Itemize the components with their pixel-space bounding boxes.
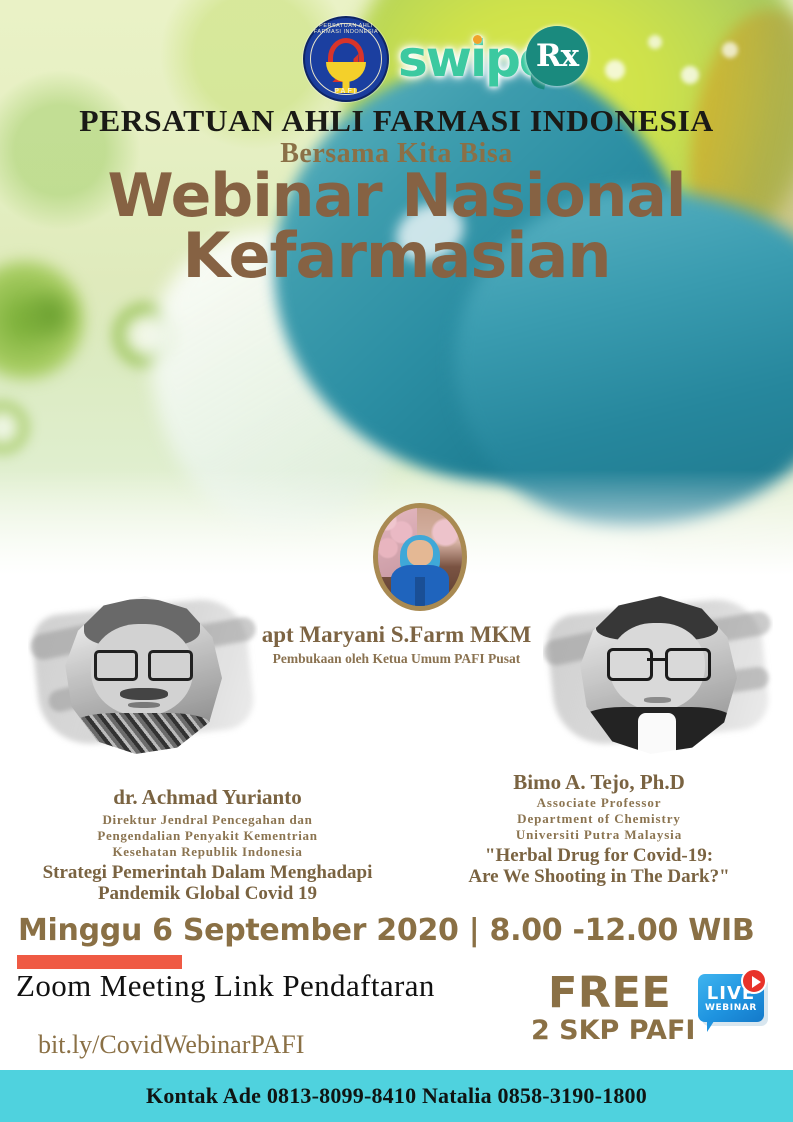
webinar-poster: PERSATUAN AHLI FARMASI INDONESIA PAFI sw… bbox=[0, 0, 793, 1122]
organization-title: PERSATUAN AHLI FARMASI INDONESIA bbox=[0, 103, 793, 139]
red-accent-bar bbox=[17, 955, 182, 969]
contact-text: Kontak Ade 0813-8099-8410 Natalia 0858-3… bbox=[146, 1083, 647, 1109]
registration-cta: Zoom Meeting Link Pendaftaran bbox=[16, 968, 435, 1004]
left-speaker-role: Direktur Jendral Pencegahan dan Pengenda… bbox=[0, 812, 415, 860]
play-triangle-icon bbox=[752, 976, 761, 988]
glasses-lens-icon bbox=[94, 650, 138, 681]
pafi-ring-bottom-text: PAFI bbox=[305, 88, 387, 95]
title-line-1: Webinar Nasional bbox=[0, 168, 793, 226]
schedule-datetime: Minggu 6 September 2020 | 8.00 -12.00 WI… bbox=[18, 913, 754, 948]
mouth-shape bbox=[128, 702, 160, 708]
skp-credits-label: 2 SKP PAFI bbox=[531, 1015, 695, 1046]
moustache-shape bbox=[120, 688, 168, 701]
center-speaker-avatar bbox=[373, 503, 467, 611]
left-speaker-topic: Strategi Pemerintah Dalam Menghadapi Pan… bbox=[0, 862, 415, 905]
glasses-bridge-icon bbox=[647, 658, 666, 661]
right-speaker-portrait bbox=[543, 588, 773, 763]
left-speaker-portrait bbox=[28, 588, 258, 763]
glasses-lens-icon bbox=[665, 648, 711, 681]
swipe-i-dot-icon bbox=[473, 35, 482, 44]
contact-bar: Kontak Ade 0813-8099-8410 Natalia 0858-3… bbox=[0, 1070, 793, 1122]
glasses-lens-icon bbox=[607, 648, 653, 681]
right-speaker-name: Bimo A. Tejo, Ph.D bbox=[405, 770, 793, 795]
glasses-lens-icon bbox=[148, 650, 192, 681]
center-speaker-photo bbox=[378, 508, 462, 606]
price-free-label: FREE bbox=[548, 968, 671, 1018]
right-speaker-topic: "Herbal Drug for Covid-19: Are We Shooti… bbox=[405, 845, 793, 888]
play-button-icon bbox=[741, 968, 767, 994]
swiperx-logo: swipe Rx bbox=[398, 24, 588, 90]
collar-shape bbox=[415, 577, 425, 606]
pafi-ring-top-text: PERSATUAN AHLI FARMASI INDONESIA bbox=[305, 23, 387, 35]
pafi-logo: PERSATUAN AHLI FARMASI INDONESIA PAFI bbox=[303, 16, 389, 102]
badge-webinar-label: WEBINAR bbox=[698, 1003, 764, 1013]
mouth-shape bbox=[644, 697, 671, 703]
title-line-2: Kefarmasian bbox=[0, 226, 793, 286]
left-speaker-name: dr. Achmad Yurianto bbox=[0, 785, 415, 810]
live-webinar-badge: LIVE WEBINAR bbox=[697, 972, 773, 1040]
cell-blob-icon bbox=[0, 400, 30, 455]
batik-shirt-shape bbox=[72, 713, 213, 754]
rx-label: Rx bbox=[526, 26, 588, 86]
face-shape bbox=[407, 540, 432, 565]
logo-row: PERSATUAN AHLI FARMASI INDONESIA PAFI sw… bbox=[0, 6, 793, 96]
rx-speech-bubble-icon: Rx bbox=[526, 26, 588, 86]
registration-link[interactable]: bit.ly/CovidWebinarPAFI bbox=[38, 1030, 304, 1060]
shirt-shape bbox=[638, 713, 676, 754]
virus-blob-icon bbox=[20, 285, 80, 345]
page-title: Webinar Nasional Kefarmasian bbox=[0, 168, 793, 285]
right-speaker-role: Associate Professor Department of Chemis… bbox=[405, 795, 793, 843]
